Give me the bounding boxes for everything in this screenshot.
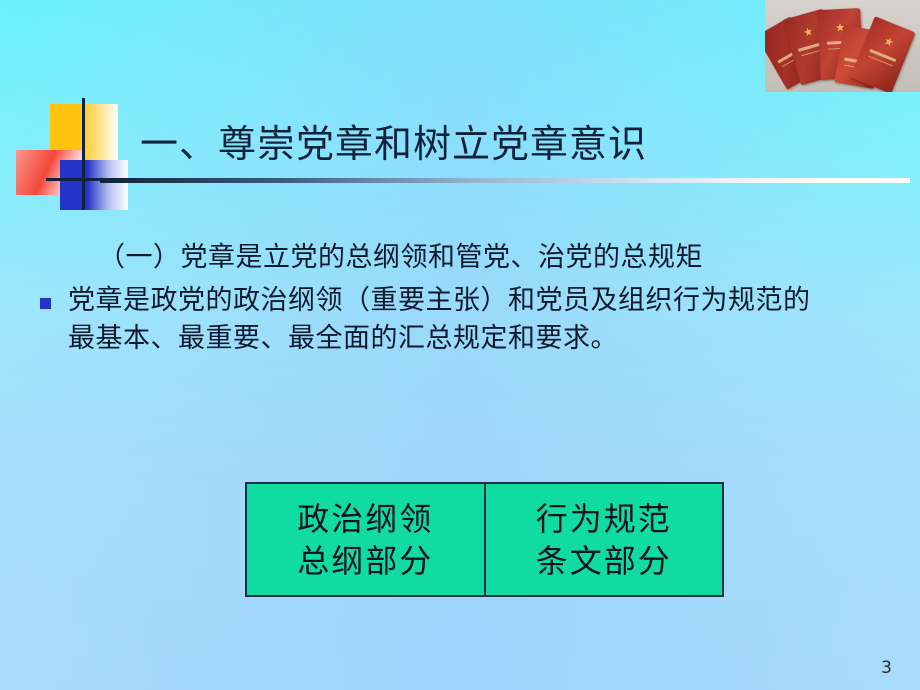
bullet-list-item: 党章是政党的政治纲领（重要主张）和党员及组织行为规范的 最基本、最重要、最全面的…: [40, 282, 900, 358]
hammer-sickle-emblem-icon: [883, 36, 895, 48]
table-cell-line-1: 政治纲领: [297, 498, 433, 540]
bullet-item-text: 党章是政党的政治纲领（重要主张）和党员及组织行为规范的 最基本、最重要、最全面的…: [68, 282, 900, 358]
table-cell-line-2: 条文部分: [536, 540, 672, 582]
title-underline-rule: [100, 178, 910, 183]
table-cell-political-program: 政治纲领 总纲部分: [247, 484, 484, 595]
slide-canvas: 一、尊崇党章和树立党章意识 （一）党章是立党的总纲领和管党、治党的总规矩 党章是…: [0, 0, 920, 690]
slide-title: 一、尊崇党章和树立党章意识: [140, 118, 840, 170]
decoration-vertical-line: [82, 98, 85, 210]
page-number: 3: [881, 658, 892, 678]
decoration-blue-square: [60, 160, 128, 210]
table-cell-line-2: 总纲部分: [297, 540, 433, 582]
party-constitution-booklets-photo: [765, 0, 920, 92]
bullet-item-line: 最基本、最重要、最全面的汇总规定和要求。: [68, 320, 900, 358]
slide-body: （一）党章是立党的总纲领和管党、治党的总规矩 党章是政党的政治纲领（重要主张）和…: [40, 238, 900, 358]
table-cell-behavior-norms: 行为规范 条文部分: [484, 484, 723, 595]
square-bullet-icon: [40, 298, 51, 309]
title-decoration: [8, 98, 138, 210]
concept-table: 政治纲领 总纲部分 行为规范 条文部分: [245, 482, 724, 597]
booklet-title-text: [869, 49, 896, 62]
bullet-item-line: 党章是政党的政治纲领（重要主张）和党员及组织行为规范的: [68, 282, 900, 320]
table-cell-line-1: 行为规范: [536, 498, 672, 540]
body-lead-text: （一）党章是立党的总纲领和管党、治党的总规矩: [40, 238, 900, 278]
hammer-sickle-emblem-icon: [803, 26, 814, 37]
